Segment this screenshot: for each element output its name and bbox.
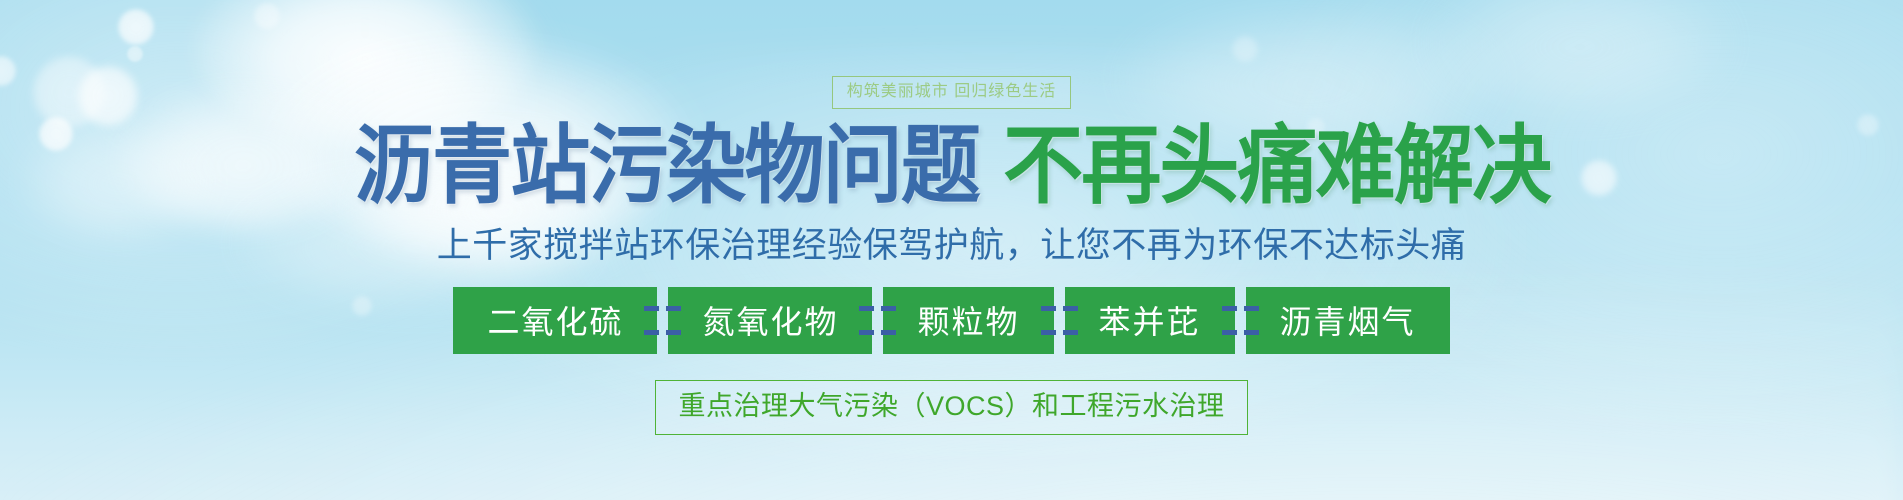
dash-mark-icon (859, 330, 874, 335)
dash-mark-icon (1041, 330, 1056, 335)
dash-mark-icon (1041, 306, 1056, 311)
pollutant-tag-label: 二氧化硫 (487, 297, 623, 343)
dash-mark-icon (666, 330, 681, 335)
banner-tagline: 构筑美丽城市 回归绿色生活 (832, 76, 1071, 109)
dash-mark-icon (859, 306, 874, 311)
headline-green-text: 不再头痛难解决 (1003, 123, 1550, 211)
pollutant-tag[interactable]: 二氧化硫 (453, 287, 657, 354)
pollutant-tag[interactable]: 沥青烟气 (1246, 287, 1450, 354)
dash-mark-icon (1244, 330, 1259, 335)
hero-banner: 构筑美丽城市 回归绿色生活 沥青站污染物问题 不再头痛难解决 上千家搅拌站环保治… (0, 0, 1903, 500)
headline-blue-text: 沥青站污染物问题 (354, 123, 979, 211)
dash-mark-icon (644, 306, 659, 311)
pollutant-tag-label: 沥青烟气 (1280, 297, 1416, 343)
pollutant-tag-strip: 二氧化硫 氮氧化物 颗粒物 苯并芘 (453, 287, 1449, 354)
banner-content: 构筑美丽城市 回归绿色生活 沥青站污染物问题 不再头痛难解决 上千家搅拌站环保治… (0, 0, 1903, 500)
dash-mark-icon (881, 306, 896, 311)
dash-mark-icon (1063, 330, 1078, 335)
dash-mark-icon (881, 330, 896, 335)
dash-mark-icon (1222, 330, 1237, 335)
dash-mark-icon (1244, 306, 1259, 311)
dash-mark-icon (1063, 306, 1078, 311)
banner-footer-note: 重点治理大气污染（VOCS）和工程污水治理 (655, 380, 1247, 435)
banner-subtitle: 上千家搅拌站环保治理经验保驾护航，让您不再为环保不达标头痛 (437, 225, 1467, 267)
pollutant-tag[interactable]: 氮氧化物 (668, 287, 872, 354)
pollutant-tag-label: 苯并芘 (1099, 297, 1201, 343)
pollutant-tag-label: 颗粒物 (917, 297, 1019, 343)
pollutant-tag[interactable]: 颗粒物 (883, 287, 1053, 354)
banner-headline: 沥青站污染物问题 不再头痛难解决 (354, 123, 1550, 211)
pollutant-tag[interactable]: 苯并芘 (1065, 287, 1235, 354)
pollutant-tag-label: 氮氧化物 (702, 297, 838, 343)
dash-mark-icon (666, 306, 681, 311)
dash-mark-icon (644, 330, 659, 335)
dash-mark-icon (1222, 306, 1237, 311)
